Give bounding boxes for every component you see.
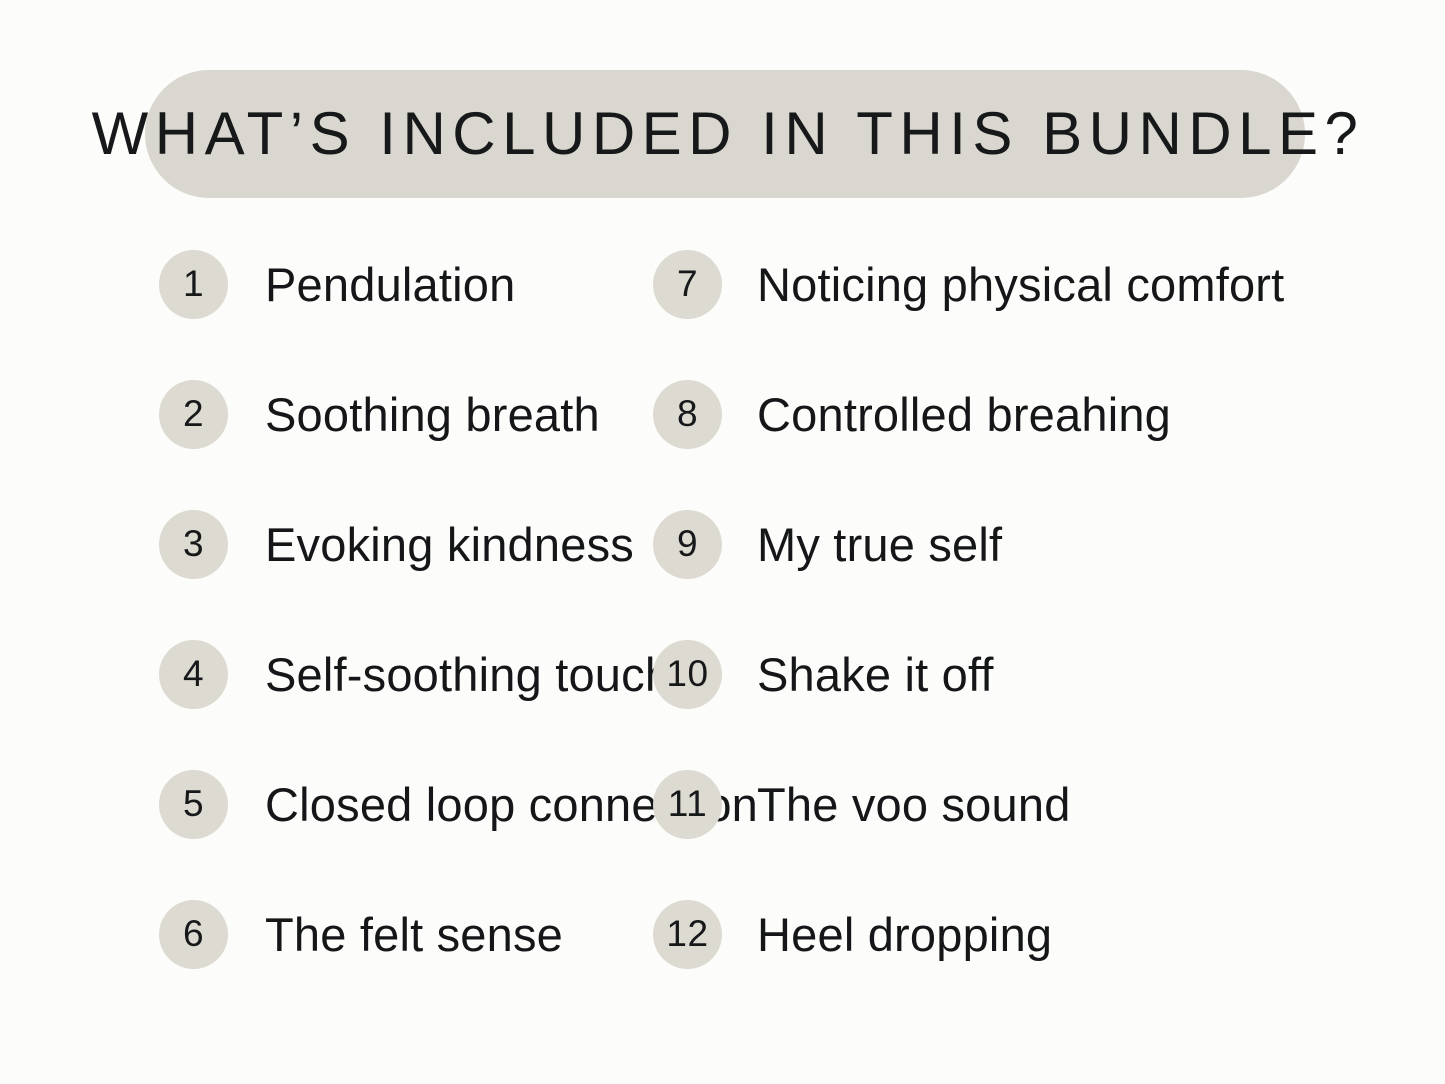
item-number: 8	[677, 395, 698, 432]
item-label: Controlled breahing	[757, 380, 1171, 449]
item-number: 3	[183, 525, 204, 562]
item-number-badge: 5	[159, 770, 228, 839]
item-number: 5	[183, 785, 204, 822]
list-item: 8 Controlled breahing	[653, 380, 1282, 510]
item-label: Pendulation	[265, 250, 515, 319]
list-item: 5 Closed loop connection	[159, 770, 642, 900]
item-label: Self-soothing touch	[265, 640, 671, 709]
page-title: WHAT’S INCLUDED IN THIS BUNDLE?	[86, 104, 1365, 164]
item-number: 9	[677, 525, 698, 562]
item-number-badge: 6	[159, 900, 228, 969]
item-label: The voo sound	[757, 770, 1071, 839]
item-number-badge: 12	[653, 900, 722, 969]
item-number-badge: 7	[653, 250, 722, 319]
list-item: 10 Shake it off	[653, 640, 1282, 770]
list-item: 4 Self-soothing touch	[159, 640, 642, 770]
item-label: Soothing breath	[265, 380, 600, 449]
item-number: 12	[666, 915, 708, 952]
item-number: 1	[183, 265, 204, 302]
list-item: 1 Pendulation	[159, 250, 642, 380]
list-column-left: 1 Pendulation 2 Soothing breath 3 Evokin…	[0, 250, 642, 1030]
list-item: 7 Noticing physical comfort	[653, 250, 1282, 380]
item-number-badge: 10	[653, 640, 722, 709]
list-item: 9 My true self	[653, 510, 1282, 640]
item-number-badge: 11	[653, 770, 722, 839]
item-number-badge: 4	[159, 640, 228, 709]
list-column-right: 7 Noticing physical comfort 8 Controlled…	[642, 250, 1282, 1030]
item-number: 7	[677, 265, 698, 302]
item-number-badge: 2	[159, 380, 228, 449]
list-item: 11 The voo sound	[653, 770, 1282, 900]
item-label: Noticing physical comfort	[757, 250, 1284, 319]
item-label: Heel dropping	[757, 900, 1052, 969]
title-banner: WHAT’S INCLUDED IN THIS BUNDLE?	[145, 70, 1305, 198]
item-number-badge: 9	[653, 510, 722, 579]
item-number-badge: 8	[653, 380, 722, 449]
item-number: 6	[183, 915, 204, 952]
item-label: Shake it off	[757, 640, 994, 709]
item-label: Evoking kindness	[265, 510, 634, 579]
item-number: 10	[666, 655, 708, 692]
item-number: 4	[183, 655, 204, 692]
list-item: 3 Evoking kindness	[159, 510, 642, 640]
list-item: 12 Heel dropping	[653, 900, 1282, 1030]
item-label: My true self	[757, 510, 1002, 579]
item-number-badge: 1	[159, 250, 228, 319]
item-number: 2	[183, 395, 204, 432]
item-label: The felt sense	[265, 900, 563, 969]
list-item: 2 Soothing breath	[159, 380, 642, 510]
item-number-badge: 3	[159, 510, 228, 579]
item-number: 11	[668, 785, 707, 822]
bundle-contents-list: 1 Pendulation 2 Soothing breath 3 Evokin…	[0, 250, 1445, 1030]
list-item: 6 The felt sense	[159, 900, 642, 1030]
